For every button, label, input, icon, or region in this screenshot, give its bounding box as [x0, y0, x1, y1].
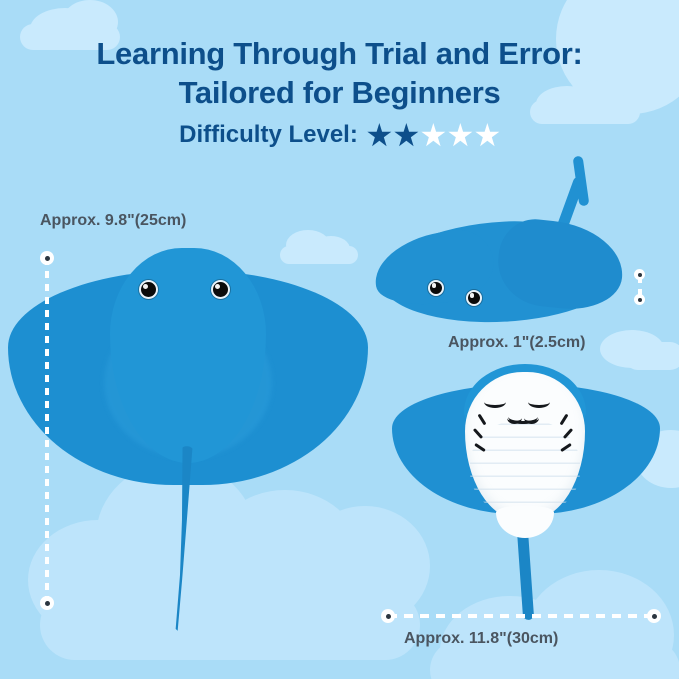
stingray-belly-smile	[508, 408, 538, 424]
star-icon-5	[475, 123, 500, 148]
product-stingray-large-top	[8, 248, 368, 608]
product-stingray-belly-front	[392, 360, 660, 615]
stingray-belly-eye-left	[484, 396, 506, 408]
stingray-large-eye-left	[141, 282, 156, 297]
header-block: Learning Through Trial and Error: Tailor…	[0, 34, 679, 148]
measurement-endpoint-right-belly	[647, 609, 661, 623]
product-infographic: Learning Through Trial and Error: Tailor…	[0, 0, 679, 679]
difficulty-stars	[367, 123, 500, 148]
star-icon-3	[421, 123, 446, 148]
measurement-ruler-width-belly	[388, 614, 654, 618]
difficulty-row: Difficulty Level:	[0, 122, 679, 148]
product-stingray-small-side	[380, 196, 615, 326]
page-title-line2: Tailored for Beginners	[0, 73, 679, 112]
stingray-side-eye-right	[468, 292, 480, 304]
measurement-endpoint-top-small	[634, 269, 645, 280]
measurement-label-width-belly: Approx. 11.8"(30cm)	[404, 630, 558, 648]
measurement-endpoint-left-belly	[381, 609, 395, 623]
stingray-belly-tip	[496, 506, 554, 538]
stingray-side-eye-left	[430, 282, 442, 294]
measurement-endpoint-bottom-main	[40, 596, 54, 610]
stingray-belly-tail	[517, 528, 534, 621]
measurement-label-height-small: Approx. 1"(2.5cm)	[448, 334, 585, 352]
measurement-endpoint-bottom-small	[634, 294, 645, 305]
difficulty-label: Difficulty Level:	[179, 122, 358, 148]
star-icon-1	[367, 123, 392, 148]
measurement-ruler-height-main	[45, 258, 49, 602]
measurement-endpoint-top-main	[40, 251, 54, 265]
star-icon-4	[448, 123, 473, 148]
page-title-line1: Learning Through Trial and Error:	[0, 34, 679, 73]
stingray-large-eye-right	[213, 282, 228, 297]
measurement-label-height-main: Approx. 9.8"(25cm)	[40, 212, 186, 230]
star-icon-2	[394, 123, 419, 148]
stingray-belly-eye-right	[528, 396, 550, 408]
